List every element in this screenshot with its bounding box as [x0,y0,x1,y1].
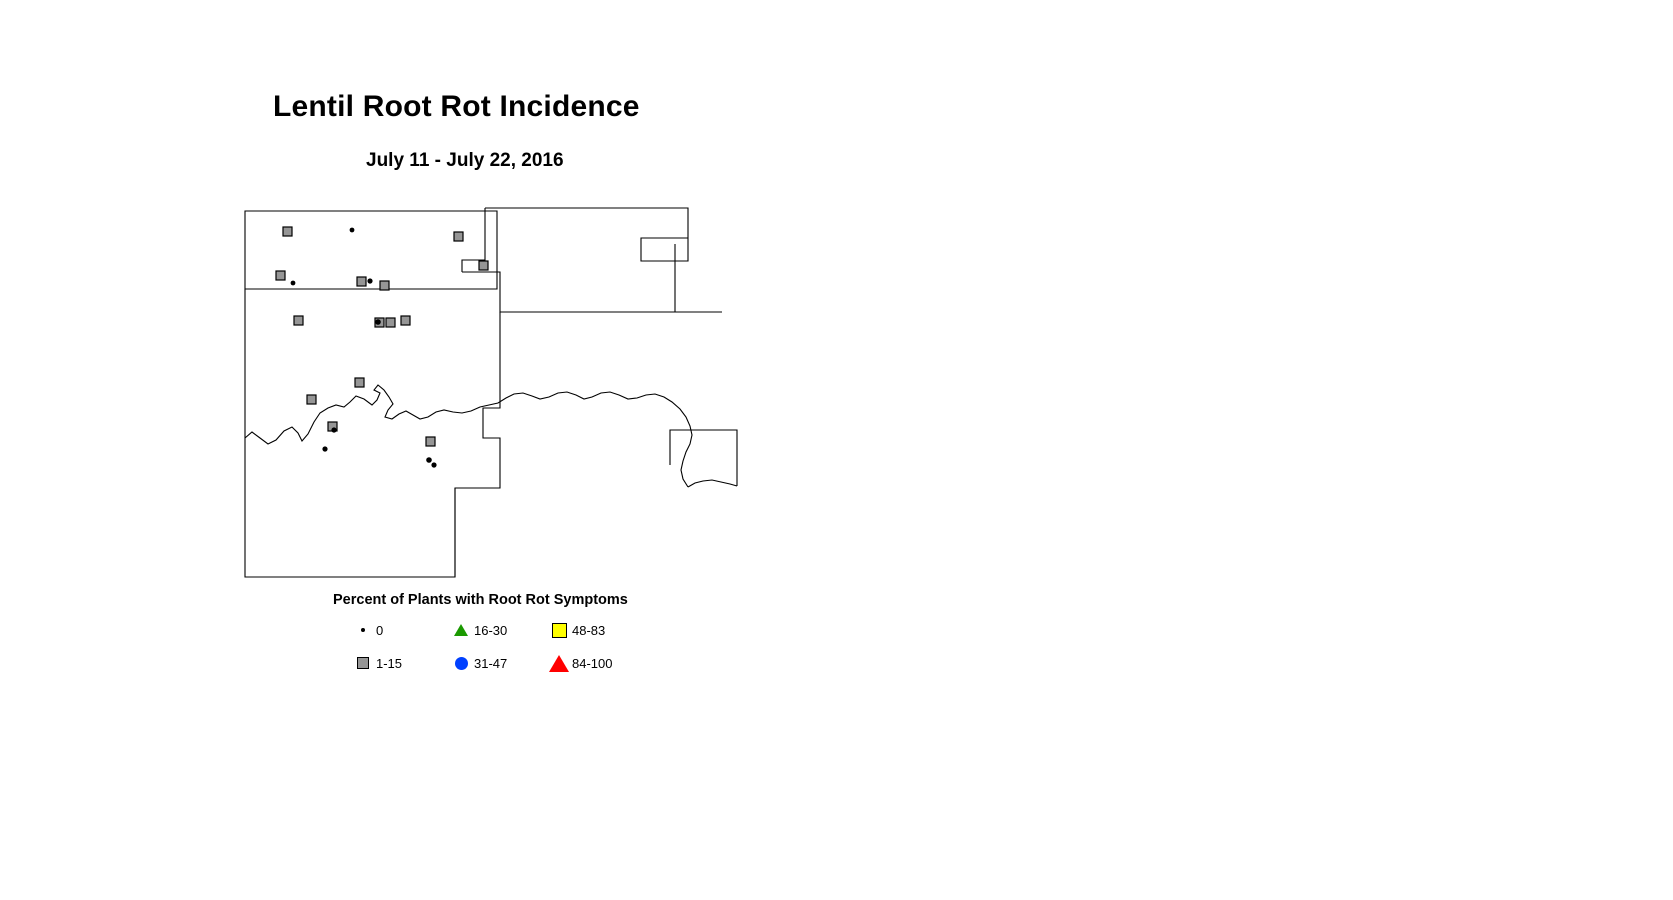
page-title: Lentil Root Rot Incidence [273,90,640,124]
data-marker [386,318,395,327]
county-boundary-southeast [670,430,737,486]
data-marker [426,437,435,446]
data-marker [454,232,463,241]
data-marker [375,319,381,325]
date-range-subtitle: July 11 - July 22, 2016 [366,150,564,172]
data-marker [307,395,316,404]
legend-item-84-100: 84-100 [548,653,612,673]
legend-row-1: 0 16-30 48-83 [352,620,652,653]
data-marker [401,316,410,325]
data-marker [322,446,327,451]
figure-root: Lentil Root Rot Incidence July 11 - July… [0,0,1673,900]
green-triangle-icon [450,624,472,636]
data-marker [479,261,488,270]
data-marker [283,227,292,236]
legend-item-0: 0 [352,620,383,640]
legend-label: 31-47 [474,656,507,671]
legend-title: Percent of Plants with Root Rot Symptoms [333,592,628,608]
data-marker [367,278,372,283]
legend-row-2: 1-15 31-47 84-100 [352,653,652,686]
data-markers-zero-dot [291,228,437,468]
gray-square-icon [352,657,374,669]
data-marker [294,316,303,325]
red-triangle-icon [548,655,570,672]
river-boundary-southeast [688,480,737,487]
data-marker [276,271,285,280]
data-marker [291,281,296,286]
data-marker [331,427,336,432]
yellow-square-icon [548,623,570,638]
blue-circle-icon [450,657,472,670]
county-outlines [245,208,737,577]
data-marker [357,277,366,286]
legend-item-1-15: 1-15 [352,653,402,673]
legend-label: 1-15 [376,656,402,671]
legend-label: 0 [376,623,383,638]
data-markers-gray-square [276,227,488,446]
legend-label: 48-83 [572,623,605,638]
legend-item-48-83: 48-83 [548,620,605,640]
legend-label: 84-100 [572,656,612,671]
data-marker [355,378,364,387]
county-boundary-west-outer [245,289,500,577]
legend: 0 16-30 48-83 1-15 [352,620,652,686]
county-boundary-northeast-south-edge [462,272,722,312]
legend-item-16-30: 16-30 [450,620,507,640]
county-map [240,200,740,590]
legend-label: 16-30 [474,623,507,638]
data-marker [350,228,355,233]
small-black-dot-icon [352,628,374,632]
data-marker [426,457,432,463]
county-boundary-northeast [485,208,688,261]
legend-item-31-47: 31-47 [450,653,507,673]
data-marker [380,281,389,290]
map-panel [240,200,740,590]
data-marker [431,462,436,467]
